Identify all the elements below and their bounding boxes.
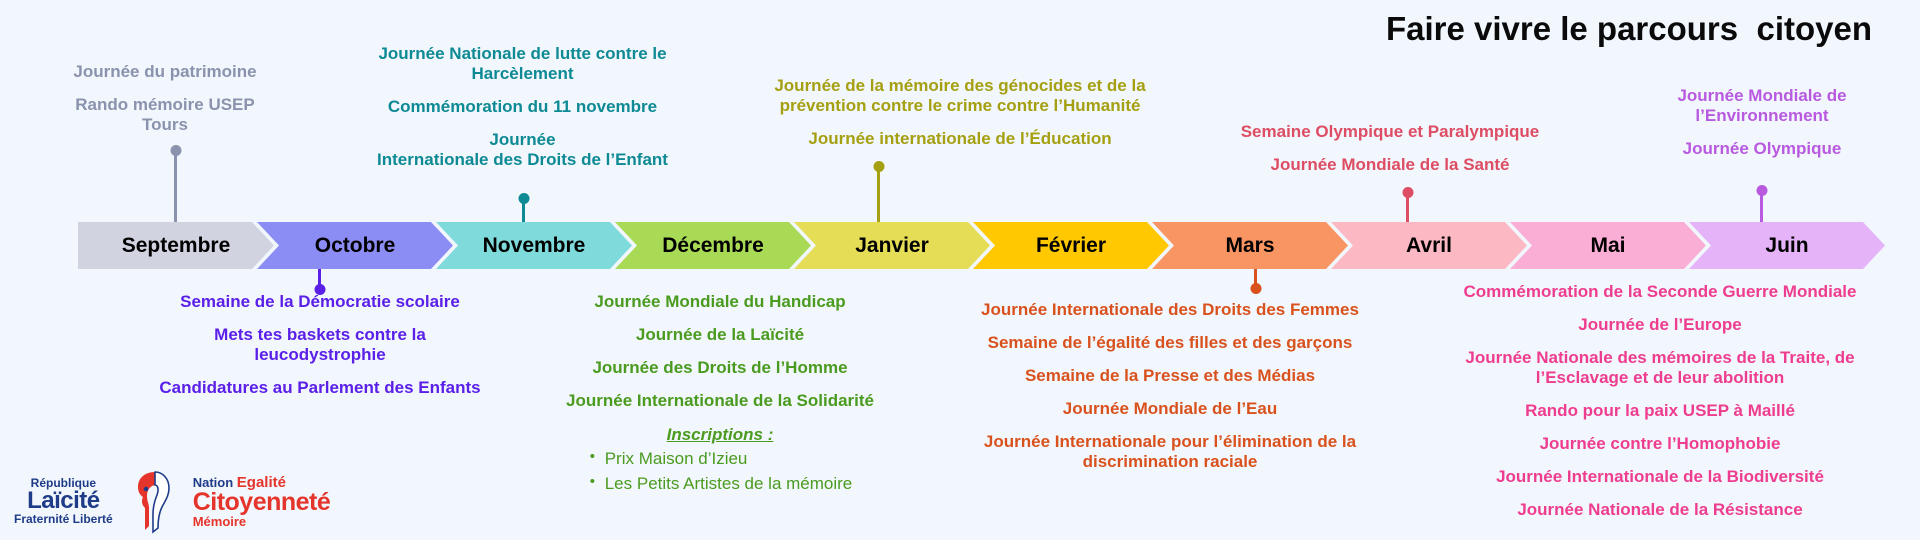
inscriptions-title: Inscriptions : <box>520 425 920 445</box>
event-group-avril-above: Semaine Olympique et Paralympique Journé… <box>1190 122 1590 175</box>
event-group-decembre-below: Journée Mondiale du Handicap Journée de … <box>520 292 920 497</box>
event-group-septembre-above: Journée du patrimoine Rando mémoire USEP… <box>30 62 300 135</box>
infographic-canvas: Faire vivre le parcours citoyen Journée … <box>0 0 1920 540</box>
event-label: Semaine de l’égalité des filles et des g… <box>930 333 1410 353</box>
timeline-month-mai[interactable]: Mai <box>1510 222 1706 269</box>
event-label: Journée Nationale de la Résistance <box>1400 500 1920 520</box>
marianne-icon <box>125 468 181 534</box>
month-label: Décembre <box>662 234 764 258</box>
month-label: Mai <box>1590 234 1625 258</box>
event-group-juin-above: Journée Mondiale de l’Environnement Jour… <box>1612 86 1912 159</box>
connector-stem-mars <box>1254 269 1257 291</box>
month-label: Février <box>1036 234 1106 258</box>
event-label: Commémoration de la Seconde Guerre Mondi… <box>1400 282 1920 302</box>
connector-dot <box>873 161 884 172</box>
connector-dot <box>1402 187 1413 198</box>
timeline-bar: Septembre Octobre Novembre Décembre Janv… <box>78 222 1868 269</box>
connector-dot <box>1756 185 1767 196</box>
event-label: Journée Internationale des Droits des Fe… <box>930 300 1410 320</box>
timeline-month-juin[interactable]: Juin <box>1689 222 1885 269</box>
timeline-month-avril[interactable]: Avril <box>1331 222 1527 269</box>
event-label: Journée Nationale de lutte contre le Har… <box>330 44 715 84</box>
event-label: Journée Internationale des Droits de l’E… <box>330 130 715 170</box>
timeline-month-fevrier[interactable]: Février <box>973 222 1169 269</box>
inscriptions-list: Prix Maison d’Izieu Les Petits Artistes … <box>588 447 853 496</box>
month-label: Janvier <box>855 234 929 258</box>
month-label: Mars <box>1225 234 1274 258</box>
event-label: Journée du patrimoine <box>30 62 300 82</box>
event-label: Journée Internationale de la Solidarité <box>520 391 920 411</box>
event-label: Journée Internationale pour l’éliminatio… <box>930 432 1410 472</box>
month-label: Avril <box>1406 234 1452 258</box>
logo-laicite-line2: Laïcité <box>14 489 113 513</box>
event-label: Journée Nationale des mémoires de la Tra… <box>1400 348 1920 388</box>
timeline-month-decembre[interactable]: Décembre <box>615 222 811 269</box>
connector-stem-juin <box>1760 188 1763 222</box>
event-label: Journée contre l’Homophobie <box>1400 434 1920 454</box>
event-label: Journée Mondiale de l’Environnement <box>1612 86 1912 126</box>
event-label: Journée Mondiale du Handicap <box>520 292 920 312</box>
event-label: Journée de la mémoire des génocides et d… <box>720 76 1200 116</box>
event-label: Journée Internationale de la Biodiversit… <box>1400 467 1920 487</box>
logo-memoire-text: Mémoire <box>193 515 331 528</box>
event-label: Journée de la Laïcité <box>520 325 920 345</box>
event-label: Rando mémoire USEP Tours <box>30 95 300 135</box>
month-label: Novembre <box>483 234 586 258</box>
timeline-month-janvier[interactable]: Janvier <box>794 222 990 269</box>
logo-citoyennete-main: Citoyenneté <box>193 490 331 515</box>
event-label: Journée Olympique <box>1612 139 1912 159</box>
connector-stem-avril <box>1406 190 1409 222</box>
timeline-month-mars[interactable]: Mars <box>1152 222 1348 269</box>
connector-stem-septembre <box>174 148 177 222</box>
month-label: Octobre <box>315 234 396 258</box>
event-label: Commémoration du 11 novembre <box>330 97 715 117</box>
timeline-month-septembre[interactable]: Septembre <box>78 222 274 269</box>
month-label: Juin <box>1765 234 1808 258</box>
month-label: Septembre <box>122 234 231 258</box>
event-label: Semaine de la Démocratie scolaire <box>110 292 530 312</box>
logo-laicite: République Laïcité Fraternité Liberté <box>14 477 113 526</box>
event-group-janvier-above: Journée de la mémoire des génocides et d… <box>720 76 1200 149</box>
event-label: Semaine de la Presse et des Médias <box>930 366 1410 386</box>
list-item: Les Petits Artistes de la mémoire <box>588 472 853 497</box>
timeline-month-octobre[interactable]: Octobre <box>257 222 453 269</box>
connector-dot <box>518 193 529 204</box>
event-label: Rando pour la paix USEP à Maillé <box>1400 401 1920 421</box>
connector-dot <box>1250 283 1261 294</box>
event-group-mars-below: Journée Internationale des Droits des Fe… <box>930 300 1410 472</box>
event-label: Semaine Olympique et Paralympique <box>1190 122 1590 142</box>
logo-citoyennete: Nation Egalité Citoyenneté Mémoire <box>193 475 331 528</box>
event-label: Candidatures au Parlement des Enfants <box>110 378 530 398</box>
connector-stem-octobre <box>318 269 321 292</box>
event-group-octobre-below: Semaine de la Démocratie scolaire Mets t… <box>110 292 530 398</box>
event-label: Journée internationale de l’Éducation <box>720 129 1200 149</box>
inscriptions-block: Inscriptions : Prix Maison d’Izieu Les P… <box>520 425 920 496</box>
event-group-novembre-above: Journée Nationale de lutte contre le Har… <box>330 44 715 170</box>
event-label: Mets tes baskets contre la leucodystroph… <box>110 325 530 365</box>
page-title: Faire vivre le parcours citoyen <box>1386 10 1872 48</box>
timeline-month-novembre[interactable]: Novembre <box>436 222 632 269</box>
event-label: Journée des Droits de l’Homme <box>520 358 920 378</box>
event-label: Journée de l’Europe <box>1400 315 1920 335</box>
event-label: Journée Mondiale de la Santé <box>1190 155 1590 175</box>
logo-laicite-line3: Fraternité Liberté <box>14 513 113 525</box>
connector-stem-janvier <box>877 164 880 222</box>
logo-bar: République Laïcité Fraternité Liberté Na… <box>14 468 330 534</box>
event-label: Journée Mondiale de l’Eau <box>930 399 1410 419</box>
list-item: Prix Maison d’Izieu <box>588 447 853 472</box>
connector-dot <box>170 145 181 156</box>
event-group-mai-below: Commémoration de la Seconde Guerre Mondi… <box>1400 282 1920 520</box>
connector-stem-novembre <box>522 196 525 222</box>
